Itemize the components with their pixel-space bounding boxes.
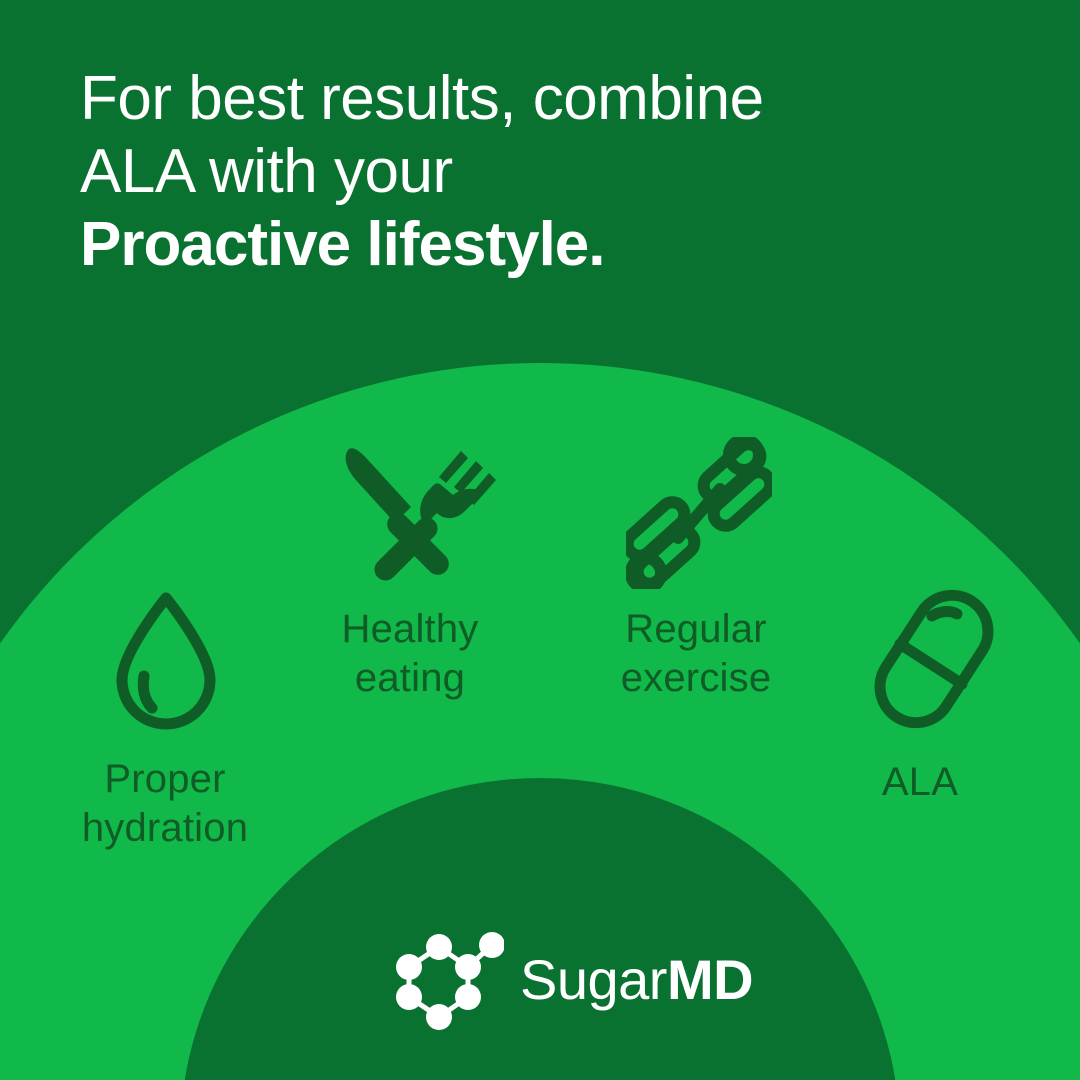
brand-logo: SugarMD [392, 925, 753, 1033]
pillar-label-eating: Healthy eating [280, 605, 540, 703]
dumbbell-icon [626, 437, 772, 589]
pillar-label-eating-line1: Healthy [341, 607, 478, 651]
promo-graphic-canvas: For best results, combine ALA with your … [0, 0, 1080, 1080]
pillar-label-hydration: Proper hydration [20, 755, 310, 853]
pill-capsule-icon [872, 588, 996, 730]
pillar-label-hydration-line1: Proper [104, 757, 225, 801]
molecule-hexagon-icon [392, 925, 504, 1033]
headline-line-1: For best results, combine [80, 64, 764, 133]
pillar-label-ala-line1: ALA [882, 760, 958, 804]
pillar-label-exercise-line2: exercise [621, 656, 772, 700]
pillar-label-ala: ALA [820, 758, 1020, 807]
headline-line-3: Proactive lifestyle. [80, 210, 605, 279]
pillar-label-eating-line2: eating [355, 656, 465, 700]
utensils-icon [333, 437, 499, 589]
pillar-label-exercise: Regular exercise [560, 605, 832, 703]
brand-name-bold: MD [667, 948, 753, 1011]
brand-name: SugarMD [520, 947, 753, 1012]
brand-name-light: Sugar [520, 948, 667, 1011]
page-title: For best results, combine ALA with your … [80, 62, 980, 281]
headline-line-2: ALA with your [80, 137, 453, 206]
pillar-label-exercise-line1: Regular [625, 607, 766, 651]
water-drop-icon [112, 588, 220, 730]
pillar-label-hydration-line2: hydration [82, 806, 248, 850]
